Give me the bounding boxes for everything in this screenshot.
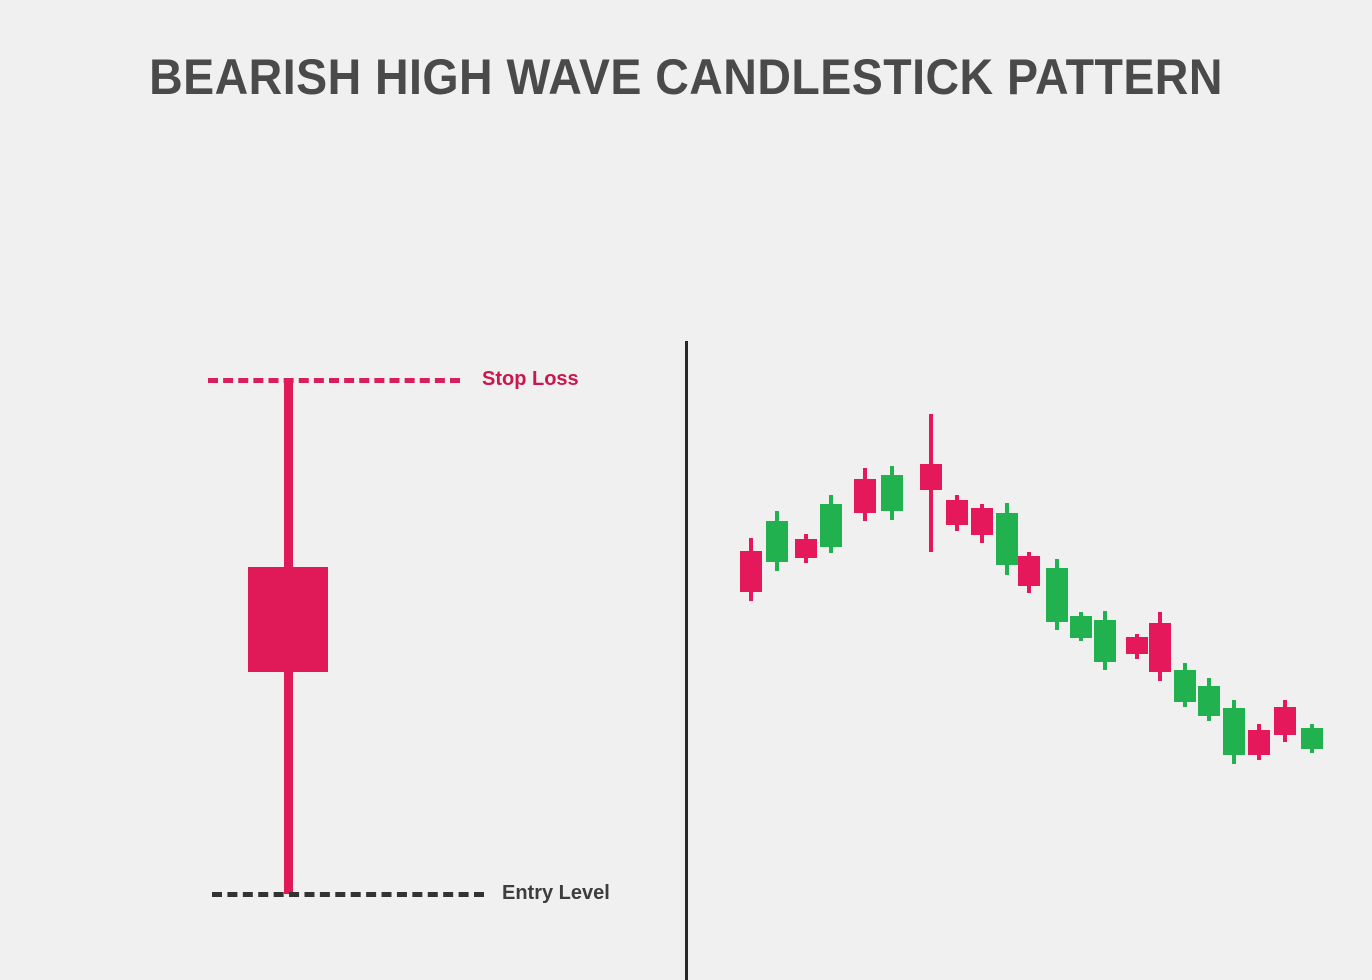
candlestick-body: [881, 475, 903, 511]
entry-level-dashed-line: [212, 892, 484, 897]
candlestick-body: [1248, 730, 1270, 755]
entry-level-label: Entry Level: [502, 883, 610, 903]
candlestick-body: [1126, 637, 1148, 654]
candlestick-body: [820, 504, 842, 547]
pattern-candle-body: [248, 567, 328, 672]
pattern-illustration-panel: Stop Loss Entry Level: [0, 0, 685, 980]
infographic-root: BEARISH HIGH WAVE CANDLESTICK PATTERN St…: [0, 0, 1372, 980]
market-context-chart-panel: [685, 0, 1372, 980]
candlestick-body: [971, 508, 993, 535]
candlestick-body: [996, 513, 1018, 565]
candlestick-body: [946, 500, 968, 525]
candlestick-body: [795, 539, 817, 558]
candlestick-body: [1198, 686, 1220, 716]
stop-loss-dashed-line: [208, 378, 460, 383]
candlestick-body: [1223, 708, 1245, 755]
candlestick-body: [920, 464, 942, 490]
candlestick-body: [1018, 556, 1040, 586]
candlestick-body: [1046, 568, 1068, 622]
candlestick-body: [1070, 616, 1092, 638]
candlestick-body: [854, 479, 876, 513]
candlestick-body: [1094, 620, 1116, 662]
candlestick-body: [1274, 707, 1296, 735]
candlestick-body: [766, 521, 788, 562]
candlestick-body: [740, 551, 762, 592]
candlestick-body: [1174, 670, 1196, 702]
candlestick-body: [1301, 728, 1323, 749]
stop-loss-label: Stop Loss: [482, 369, 579, 389]
candlestick-body: [1149, 623, 1171, 672]
